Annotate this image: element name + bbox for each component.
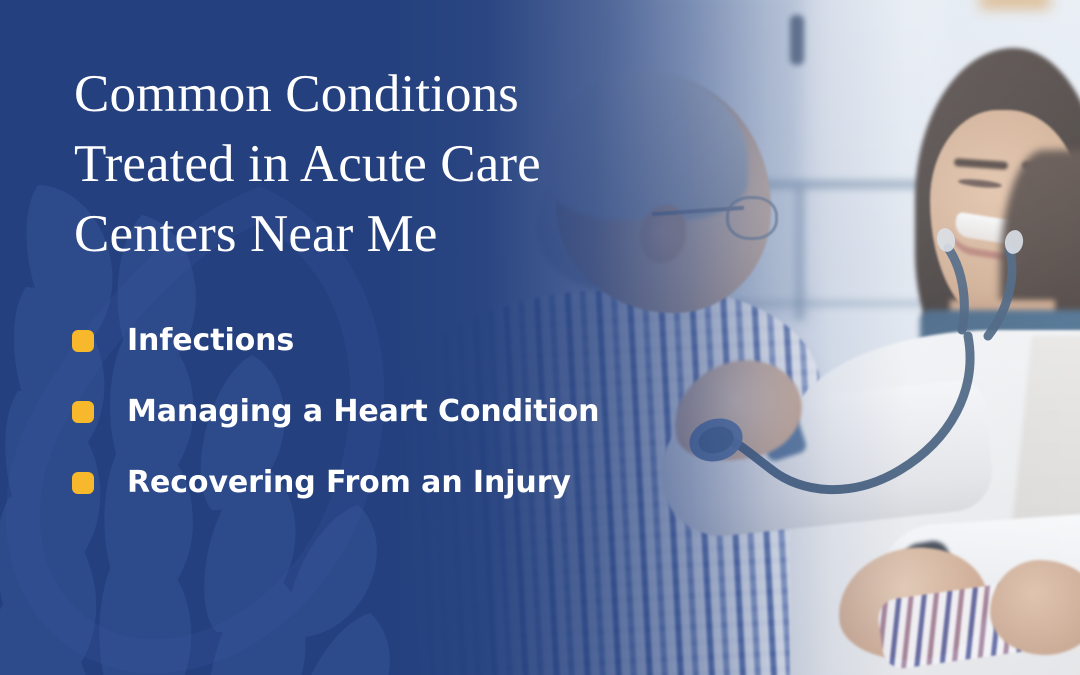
- list-item-label: Infections: [127, 326, 294, 356]
- conditions-list: Infections Managing a Heart Condition Re…: [72, 318, 599, 505]
- square-bullet-icon: [72, 472, 94, 494]
- page-title: Common Conditions Treated in Acute Care …: [74, 59, 674, 269]
- headline-line-3: Centers Near Me: [74, 199, 674, 269]
- banner-content: Common Conditions Treated in Acute Care …: [0, 0, 1080, 675]
- promo-banner: Common Conditions Treated in Acute Care …: [0, 0, 1080, 675]
- square-bullet-icon: [72, 401, 94, 423]
- headline-line-1: Common Conditions: [74, 59, 674, 129]
- list-item: Managing a Heart Condition: [72, 389, 599, 434]
- list-item-label: Recovering From an Injury: [127, 468, 571, 498]
- headline-line-2: Treated in Acute Care: [74, 129, 674, 199]
- list-item: Recovering From an Injury: [72, 460, 599, 505]
- list-item: Infections: [72, 318, 599, 363]
- list-item-label: Managing a Heart Condition: [127, 397, 599, 427]
- square-bullet-icon: [72, 330, 94, 352]
